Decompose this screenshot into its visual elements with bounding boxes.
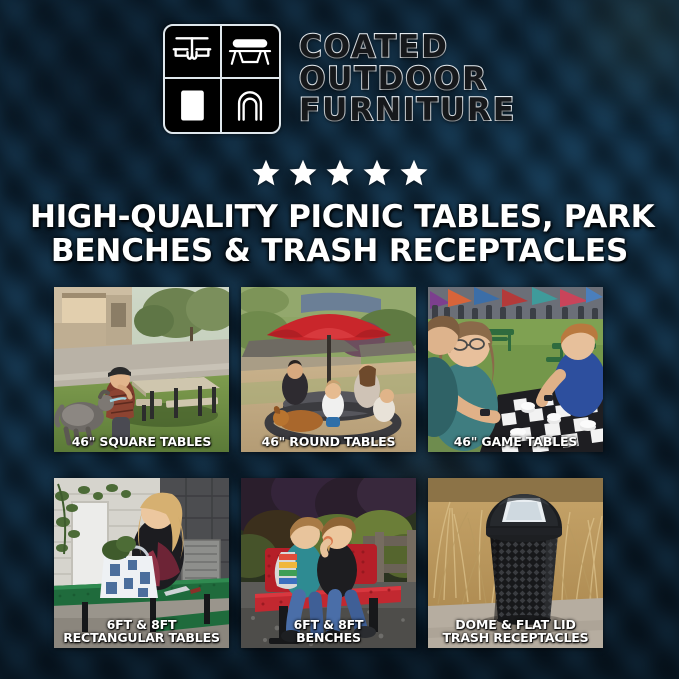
product-caption: 46" ROUND TABLES xyxy=(245,435,412,448)
brand-logo: COATED OUTDOOR FURNITURE xyxy=(0,24,679,134)
star-icon-3 xyxy=(325,158,355,188)
brand-name-line-2: OUTDOOR xyxy=(299,64,516,95)
product-tile-square-tables[interactable]: 46" SQUARE TABLES xyxy=(54,287,229,452)
picnic-table-icon xyxy=(165,26,222,79)
star-icon-4 xyxy=(362,158,392,188)
star-icon-5 xyxy=(399,158,429,188)
caption-line: 46" SQUARE TABLES xyxy=(58,435,225,448)
product-photo-square-tables xyxy=(54,287,229,452)
star-icon-1 xyxy=(251,158,281,188)
star-icon-2 xyxy=(288,158,318,188)
poster-content: COATED OUTDOOR FURNITURE HIGH-QUALITY PI… xyxy=(0,0,679,679)
caption-line: DOME & FLAT LID xyxy=(432,618,599,631)
caption-line: 6FT & 8FT xyxy=(58,618,225,631)
page-title: HIGH-QUALITY PICNIC TABLES, PARK BENCHES… xyxy=(30,200,649,269)
product-grid: 46" SQUARE TABLES xyxy=(54,287,623,648)
product-caption: 6FT & 8FT RECTANGULAR TABLES xyxy=(58,618,225,645)
product-caption: DOME & FLAT LID TRASH RECEPTACLES xyxy=(432,618,599,645)
product-photo-round-tables xyxy=(241,287,416,452)
caption-line: 46" GAME TABLES xyxy=(432,435,599,448)
caption-line: 46" ROUND TABLES xyxy=(245,435,412,448)
brand-name-line-3: FURNITURE xyxy=(299,95,516,126)
product-tile-trash-receptacles[interactable]: DOME & FLAT LID TRASH RECEPTACLES xyxy=(428,478,603,648)
logo-mark-grid xyxy=(163,24,281,134)
brand-name-line-1: COATED xyxy=(299,32,516,63)
product-photo-game-tables xyxy=(428,287,603,452)
product-caption: 6FT & 8FT BENCHES xyxy=(245,618,412,645)
caption-line: 6FT & 8FT xyxy=(245,618,412,631)
product-caption: 46" SQUARE TABLES xyxy=(58,435,225,448)
caption-line: BENCHES xyxy=(245,631,412,644)
trash-receptacle-icon xyxy=(165,79,222,132)
star-rating xyxy=(0,158,679,188)
headline-line-2: BENCHES & TRASH RECEPTACLES xyxy=(30,234,649,268)
product-tile-rectangular-tables[interactable]: 6FT & 8FT RECTANGULAR TABLES xyxy=(54,478,229,648)
product-tile-round-tables[interactable]: 46" ROUND TABLES xyxy=(241,287,416,452)
product-tile-benches[interactable]: 6FT & 8FT BENCHES xyxy=(241,478,416,648)
bike-rack-icon xyxy=(222,79,279,132)
park-bench-icon xyxy=(222,26,279,79)
product-caption: 46" GAME TABLES xyxy=(432,435,599,448)
product-tile-game-tables[interactable]: 46" GAME TABLES xyxy=(428,287,603,452)
caption-line: TRASH RECEPTACLES xyxy=(432,631,599,644)
poster-canvas: COATED OUTDOOR FURNITURE HIGH-QUALITY PI… xyxy=(0,0,679,679)
caption-line: RECTANGULAR TABLES xyxy=(58,631,225,644)
headline-line-1: HIGH-QUALITY PICNIC TABLES, PARK xyxy=(30,200,649,234)
brand-name: COATED OUTDOOR FURNITURE xyxy=(299,32,516,126)
